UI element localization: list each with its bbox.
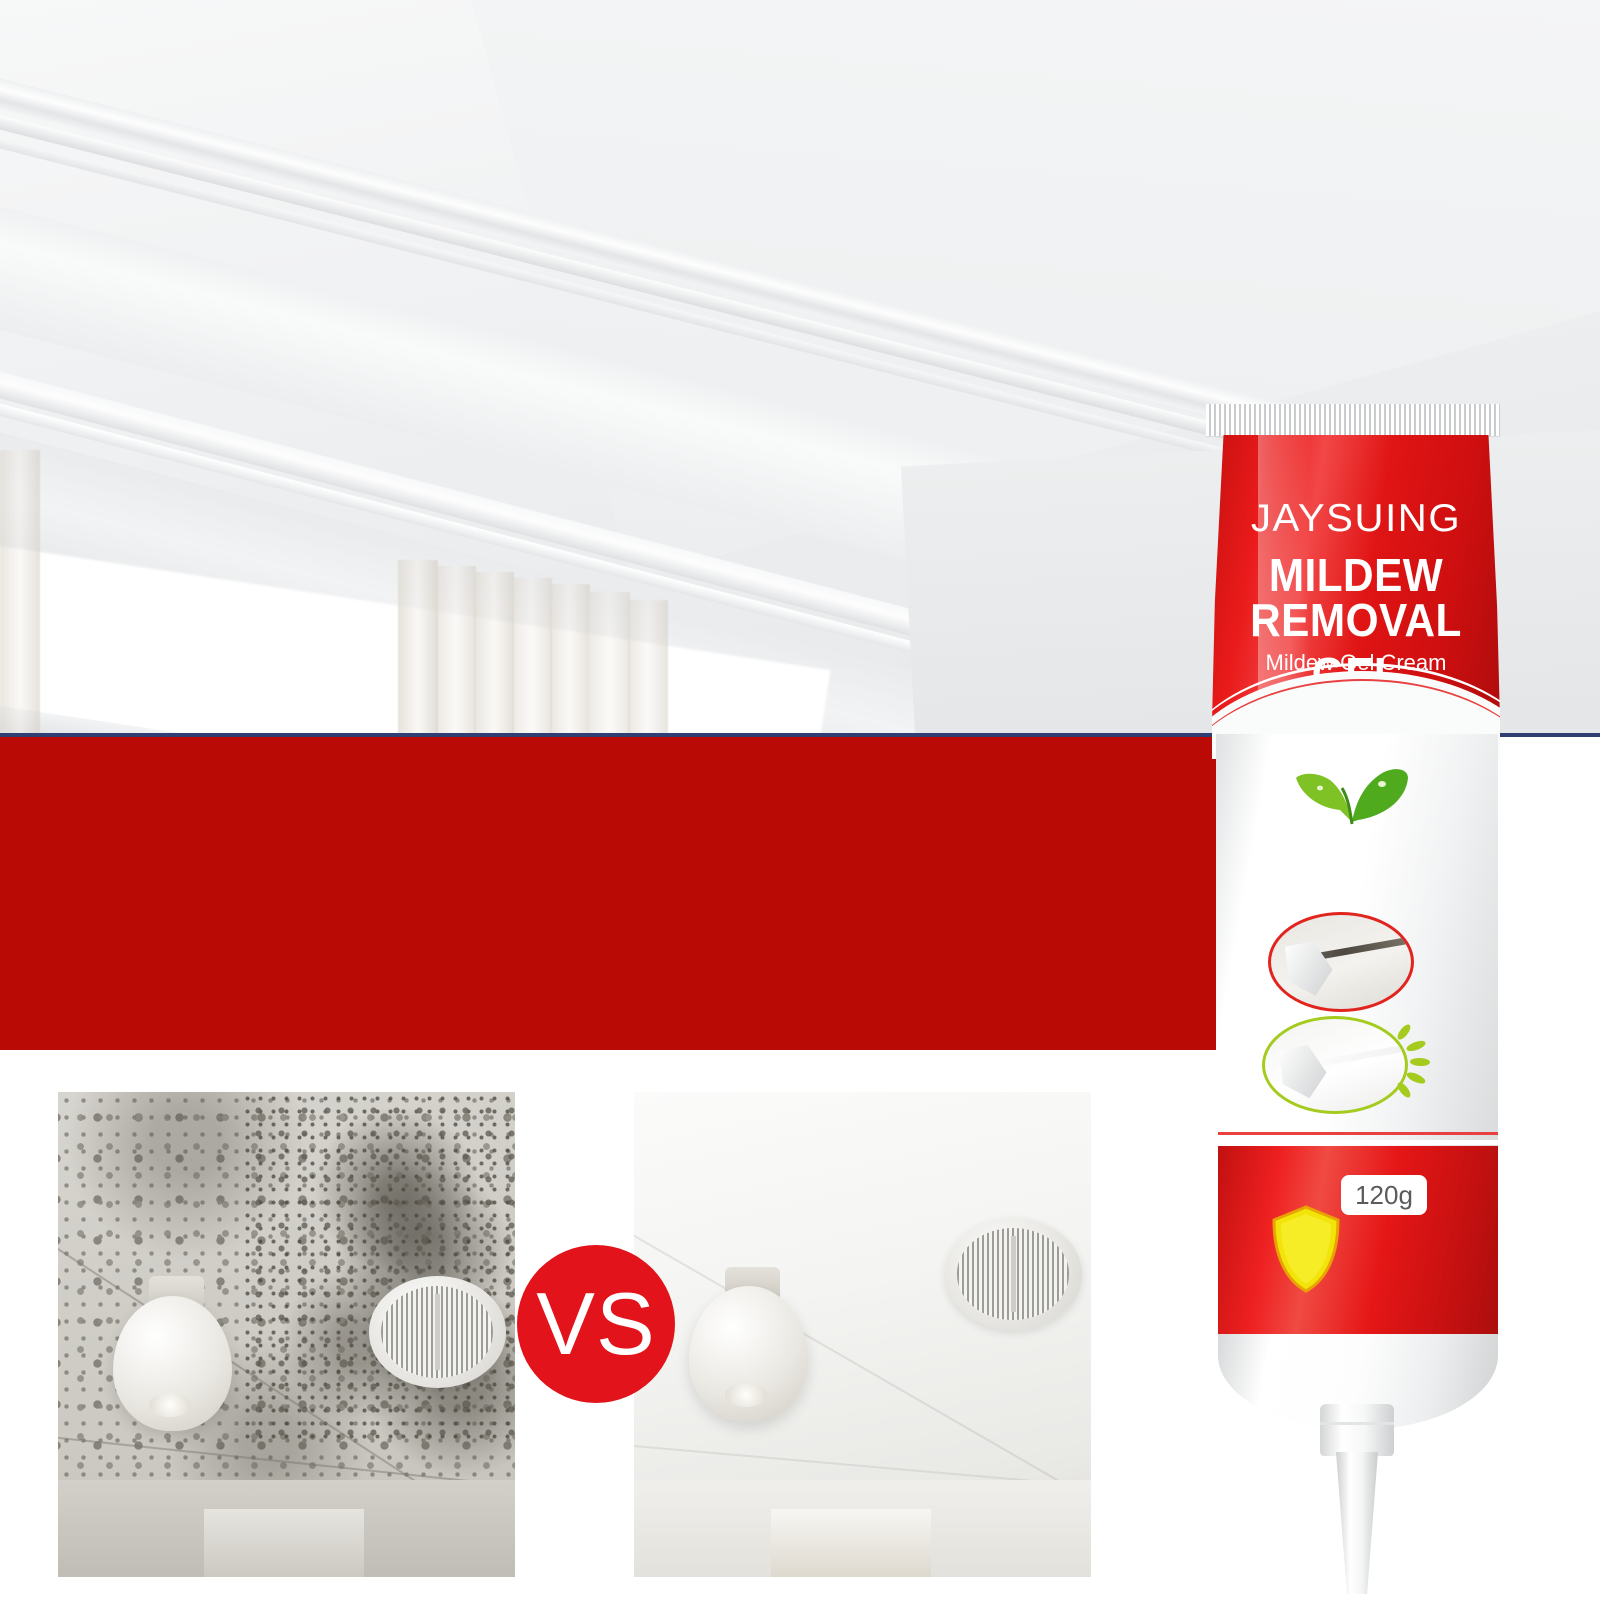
product-brand: JAYSUING <box>1208 497 1505 541</box>
light-fixture-lens <box>725 1383 766 1407</box>
tube-oval-after <box>1262 1016 1408 1114</box>
curtain-panel <box>590 592 630 737</box>
light-fixture-lens <box>149 1393 190 1417</box>
before-photo <box>58 1092 515 1577</box>
door-frame <box>771 1509 931 1577</box>
tube-lower-white-rule <box>1218 1140 1498 1145</box>
product-marketing-page: EFFECTIVE MILDEW REMOVAL REDUCE PECULIAR… <box>0 0 1600 1600</box>
shield-icon <box>1270 1204 1342 1294</box>
ceiling-vent <box>945 1218 1082 1330</box>
applicator-illustration <box>1279 1045 1327 1098</box>
nozzle-collar <box>1320 1404 1394 1456</box>
leaf-icon <box>1290 760 1410 826</box>
curtain-panel <box>474 572 514 737</box>
curtain-panel <box>512 578 552 737</box>
curtain-panel <box>628 600 668 737</box>
curtain-panel <box>0 450 40 737</box>
vs-label: VS <box>536 1280 655 1368</box>
tube-oval-before <box>1268 912 1414 1012</box>
ceiling-vent <box>369 1276 506 1388</box>
product-tube: JAYSUING MILDEW REMOVAL GEL Mildew Gel C… <box>1190 404 1520 1594</box>
nozzle-collar-rib <box>1320 1422 1394 1425</box>
applicator-illustration <box>1285 941 1333 996</box>
vent-bar <box>1011 1236 1016 1312</box>
curtain-panel <box>550 584 590 737</box>
net-weight-badge: 120g <box>1341 1175 1427 1215</box>
sunburst-icon <box>1390 1024 1442 1098</box>
applicator-nozzle <box>1336 1452 1378 1594</box>
headline-banner <box>0 737 1245 1050</box>
door-frame <box>204 1509 364 1577</box>
vs-badge: VS <box>517 1245 675 1403</box>
curtain-panel <box>436 566 476 737</box>
mould-speckle-dense <box>241 1092 515 1441</box>
vent-bar <box>435 1294 440 1370</box>
curtain-panel <box>398 560 438 737</box>
tube-lower-red-rule <box>1218 1132 1498 1135</box>
tube-crimp-seal <box>1206 404 1500 437</box>
after-photo <box>634 1092 1091 1577</box>
